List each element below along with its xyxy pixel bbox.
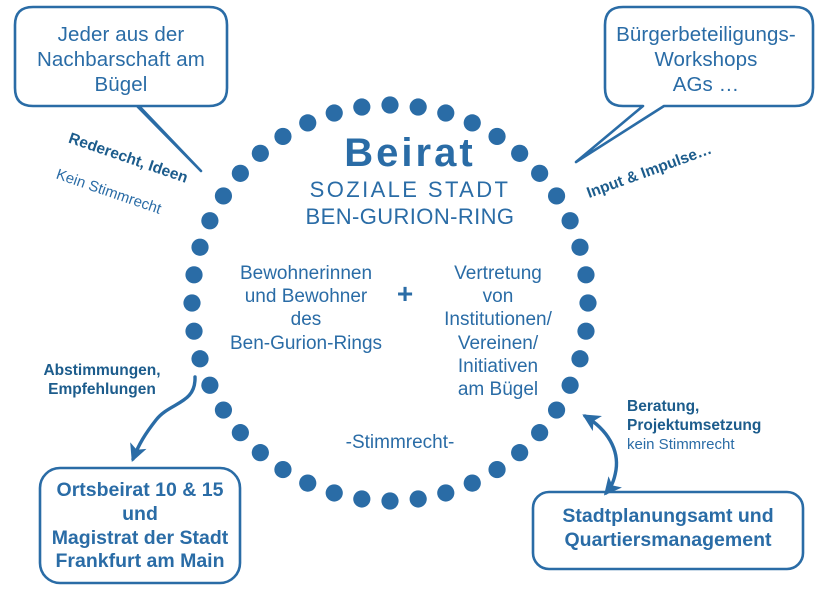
members-column-residents: Bewohnerinnen und Bewohner des Ben-Gurio… <box>213 262 399 355</box>
ring-dot <box>531 424 548 441</box>
box-bottom-right-text: Stadtplanungsamt und Quartiersmanagement <box>537 505 799 553</box>
ring-dot <box>201 377 218 394</box>
ring-dot <box>562 212 579 229</box>
page-subtitle-2: BEN-GURION-RING <box>270 204 550 231</box>
ring-dot <box>511 444 528 461</box>
ring-dot <box>464 475 481 492</box>
ring-dot <box>571 350 588 367</box>
box-bottom-left-text: Ortsbeirat 10 & 15 und Magistrat der Sta… <box>44 479 236 574</box>
ring-dot <box>252 444 269 461</box>
ring-dot <box>410 490 427 507</box>
arrow-beratung <box>585 416 616 493</box>
ring-dot <box>232 424 249 441</box>
bubble-top-left-text: Jeder aus der Nachbarschaft am Bügel <box>22 22 220 97</box>
connector-label-beratung: Beratung, Projektumsetzung kein Stimmrec… <box>627 398 802 454</box>
ring-dot <box>381 492 398 509</box>
ring-dot <box>326 484 343 501</box>
ring-dot <box>579 294 596 311</box>
members-column-institutions: Vertretung von Institutionen/ Vereinen/ … <box>424 262 572 401</box>
ring-dot <box>326 104 343 121</box>
connector-beratung-strong: Beratung, Projektumsetzung <box>627 398 802 436</box>
ring-dot <box>410 98 427 115</box>
ring-dot <box>185 323 202 340</box>
ring-dot <box>548 401 565 418</box>
ring-dot <box>274 461 291 478</box>
ring-dot <box>353 490 370 507</box>
ring-dot <box>299 475 316 492</box>
ring-dot <box>577 266 594 283</box>
ring-dot <box>437 104 454 121</box>
ring-dot <box>548 187 565 204</box>
ring-dot <box>183 294 200 311</box>
ring-dot <box>571 239 588 256</box>
page-subtitle-1: SOZIALE STADT <box>270 177 550 204</box>
ring-dot <box>381 96 398 113</box>
ring-dot <box>488 461 505 478</box>
connector-label-abstimmungen: Abstimmungen, Empfehlungen <box>22 362 182 400</box>
ring-dot <box>191 239 208 256</box>
ring-dot <box>437 484 454 501</box>
ring-dot <box>215 187 232 204</box>
voting-right-note: -Stimmrecht- <box>300 431 500 454</box>
connector-beratung-light: kein Stimmrecht <box>627 436 802 454</box>
connector-abstimmungen-strong: Abstimmungen, Empfehlungen <box>22 362 182 400</box>
ring-dot <box>215 401 232 418</box>
bubble-top-right-text: Bürgerbeteiligungs- Workshops AGs … <box>606 22 806 97</box>
ring-dot <box>185 266 202 283</box>
plus-icon: + <box>392 277 418 311</box>
ring-dot <box>353 98 370 115</box>
diagram-canvas: Jeder aus der Nachbarschaft am Bügel Bür… <box>0 0 820 600</box>
ring-dot <box>191 350 208 367</box>
ring-dot <box>232 165 249 182</box>
page-title: Beirat <box>280 129 540 178</box>
ring-dot <box>252 145 269 162</box>
ring-dot <box>577 323 594 340</box>
ring-dot <box>201 212 218 229</box>
